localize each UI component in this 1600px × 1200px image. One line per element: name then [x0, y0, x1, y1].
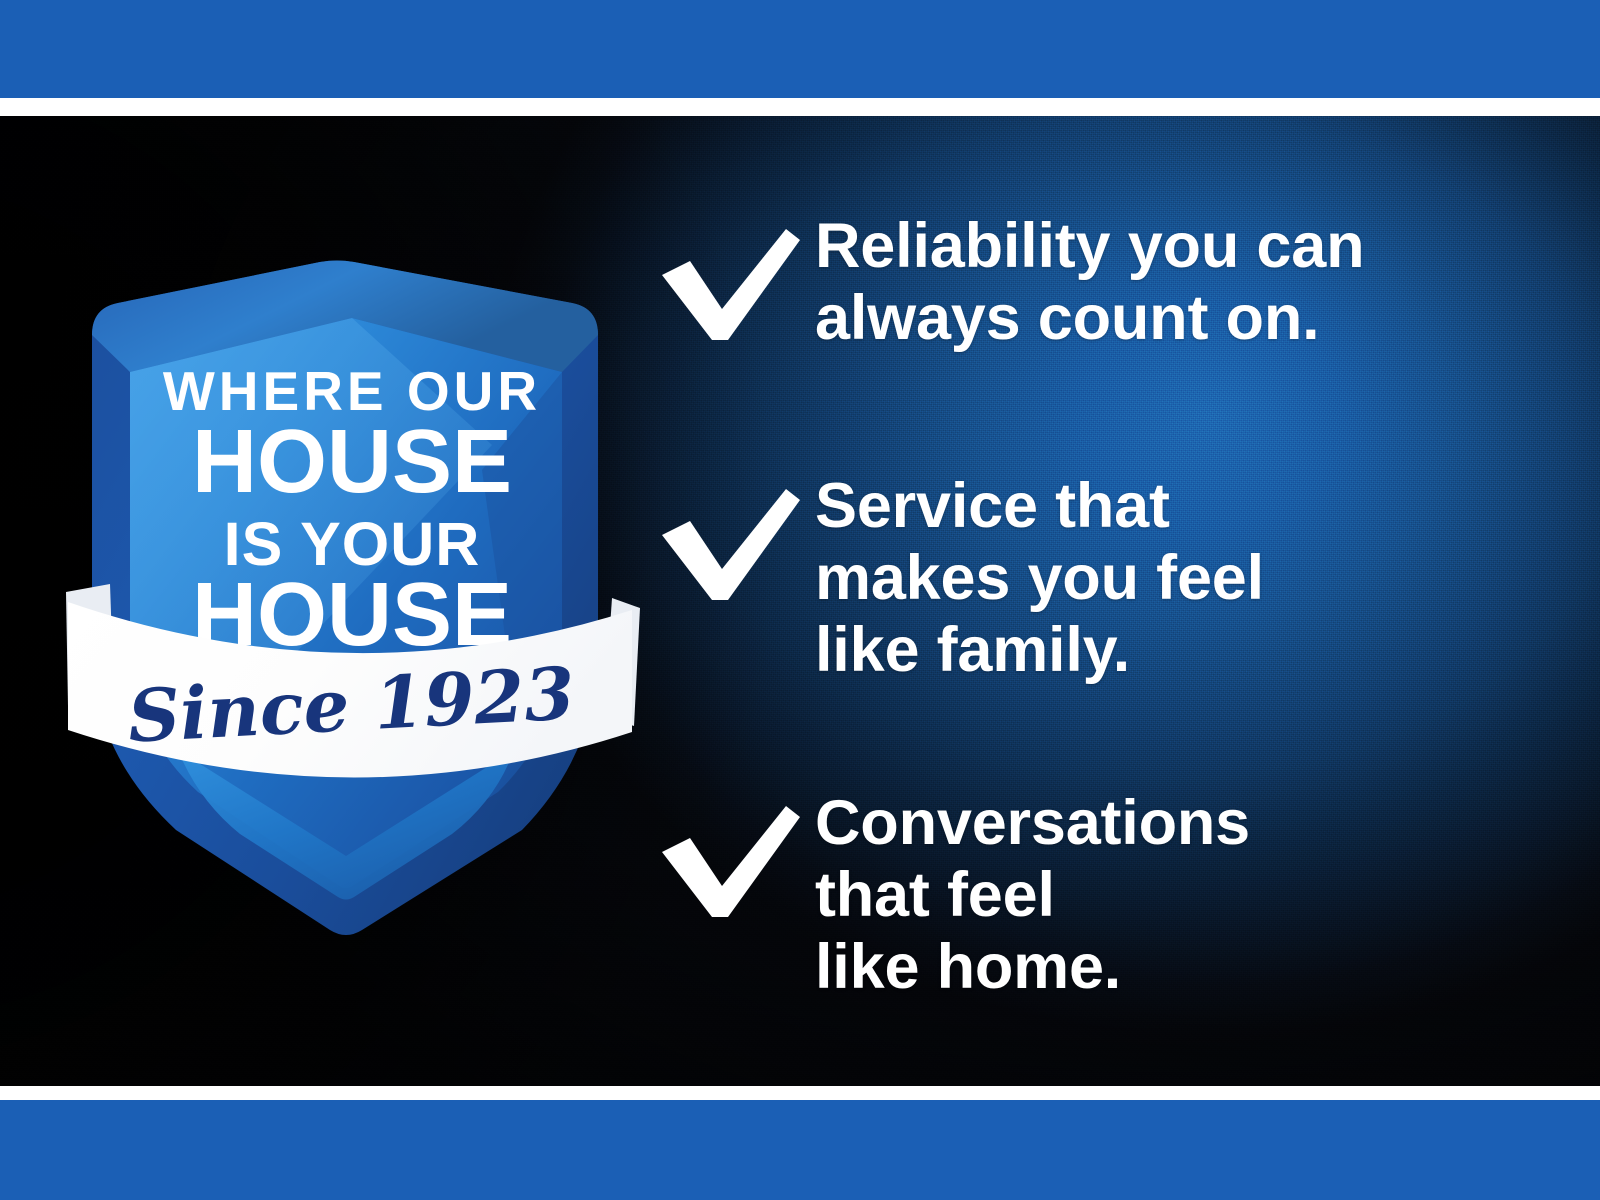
top-white-divider — [0, 98, 1600, 116]
promo-graphic: WHERE OUR HOUSE IS YOUR HOUSE Since 1923 — [0, 0, 1600, 1200]
benefit-text: Reliability you can always count on. — [815, 211, 1560, 355]
benefits-list: Reliability you can always count on. Ser… — [660, 116, 1560, 1086]
benefit-text: Service that makes you feel like family. — [815, 471, 1560, 686]
benefit-item: Service that makes you feel like family. — [660, 471, 1560, 686]
bottom-brand-bar — [0, 1100, 1600, 1200]
checkmark-icon — [660, 471, 815, 602]
benefit-item: Conversations that feel like home. — [660, 788, 1560, 1003]
bottom-white-divider — [0, 1086, 1600, 1100]
checkmark-icon — [660, 788, 815, 919]
top-brand-bar — [0, 0, 1600, 98]
checkmark-icon — [660, 211, 815, 342]
shield-line-1: HOUSE — [192, 412, 512, 512]
shield-emblem: WHERE OUR HOUSE IS YOUR HOUSE Since 1923 — [52, 140, 652, 940]
benefit-item: Reliability you can always count on. — [660, 211, 1560, 355]
benefit-text: Conversations that feel like home. — [815, 788, 1560, 1003]
